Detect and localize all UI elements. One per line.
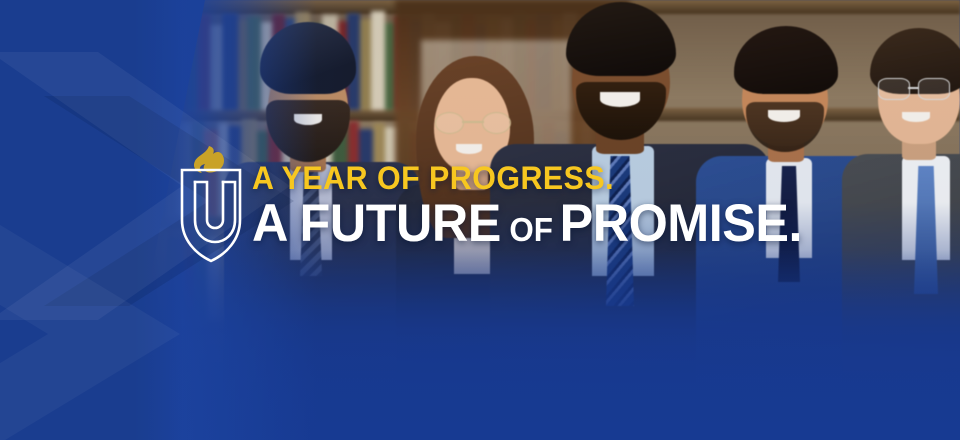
hero-banner: A YEAR OF PROGRESS. A FUTURE OF PROMISE.	[0, 0, 960, 440]
headline-line-2-part-2: PROMISE.	[560, 197, 802, 250]
headline-line-2-part-1: A FUTURE	[252, 197, 501, 250]
letter-u-glyph	[195, 182, 223, 228]
headline-line-2: A FUTURE OF PROMISE.	[252, 197, 802, 250]
headline-line-2-connector: OF	[509, 213, 553, 246]
headline-line-1: A YEAR OF PROGRESS.	[252, 162, 802, 194]
headline-block: A YEAR OF PROGRESS. A FUTURE OF PROMISE.	[252, 162, 831, 250]
letter-u-outer-stroke	[195, 182, 235, 242]
shield-outline	[182, 170, 240, 261]
utica-university-shield-torch-logo	[176, 144, 246, 266]
